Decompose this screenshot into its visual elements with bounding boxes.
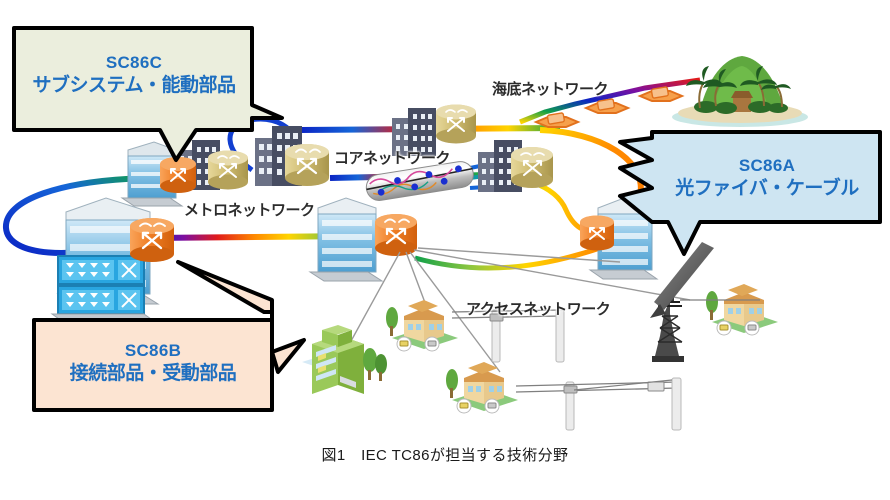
core-node-far-right: [478, 140, 553, 192]
central-office-node: [52, 198, 174, 324]
label-access-network: アクセスネットワーク: [466, 298, 610, 319]
utility-pole-icon: [648, 378, 681, 430]
gold-cylinder-router-icon: [511, 147, 553, 188]
orange-cylinder-router-icon: [130, 218, 174, 262]
house-icon: [446, 362, 518, 413]
label-metro-network: メトロネットワーク: [184, 199, 315, 220]
tropical-island-icon: [672, 56, 808, 127]
house-icon: [386, 300, 458, 351]
orange-cylinder-router-icon: [580, 216, 614, 251]
callout-sc86a[interactable]: [620, 132, 880, 254]
gold-cylinder-router-icon: [285, 144, 329, 186]
green-office-building-icon: [302, 325, 387, 394]
blue-office-building-icon: [310, 198, 382, 281]
callout-sc86c[interactable]: [14, 28, 282, 160]
figure-root: SC86C サブシステム・能動部品 SC86A 光ファイバ・ケーブル SC86B…: [0, 0, 890, 500]
metro-node-center: [310, 198, 417, 281]
label-core-network: コアネットワーク: [334, 147, 450, 168]
cell-tower-icon: [652, 296, 684, 362]
network-diagram: [0, 0, 890, 440]
orange-cylinder-router-icon: [160, 157, 196, 193]
orange-cylinder-router-icon: [375, 214, 417, 256]
figure-caption: 図1 IEC TC86が担当する技術分野: [0, 444, 890, 465]
cyan-switch-stack-icon: [52, 256, 158, 324]
house-icon: [706, 284, 778, 335]
label-submarine-network: 海底ネットワーク: [492, 78, 608, 99]
core-node-left: [255, 126, 329, 186]
gold-cylinder-router-icon: [208, 151, 248, 190]
gold-cylinder-router-icon: [436, 105, 476, 144]
